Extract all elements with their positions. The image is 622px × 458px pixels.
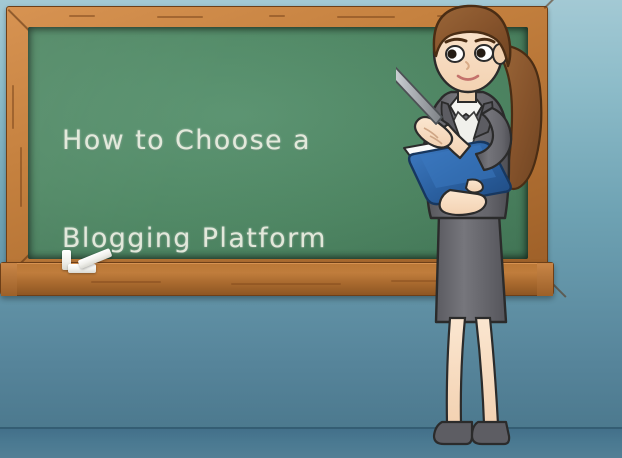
teacher-figure	[396, 4, 576, 454]
teacher-illustration	[396, 4, 576, 454]
skirt	[436, 214, 506, 322]
wood-grain	[231, 283, 341, 285]
pupil-left	[447, 49, 456, 58]
wood-grain	[12, 85, 14, 129]
wood-grain	[69, 15, 95, 17]
shoe-left	[434, 422, 472, 444]
wood-grain	[337, 16, 395, 18]
wood-grain	[20, 147, 22, 207]
headline-line-1: How to Choose a	[62, 116, 392, 165]
tray-end-left	[1, 263, 17, 296]
leg-right	[476, 318, 498, 424]
hand-on-book	[440, 190, 487, 215]
leg-left	[447, 318, 465, 424]
shoe-right	[472, 422, 509, 444]
wood-grain	[269, 15, 285, 17]
wood-grain	[91, 281, 161, 283]
thumb-on-book	[466, 180, 483, 193]
wood-grain	[157, 16, 203, 18]
headline-line-2: Blogging Platform	[62, 214, 392, 259]
chalkboard-headline: How to Choose a Blogging Platform	[62, 67, 392, 259]
pupil-right	[476, 48, 485, 57]
classroom-illustration: How to Choose a Blogging Platform	[0, 0, 622, 458]
